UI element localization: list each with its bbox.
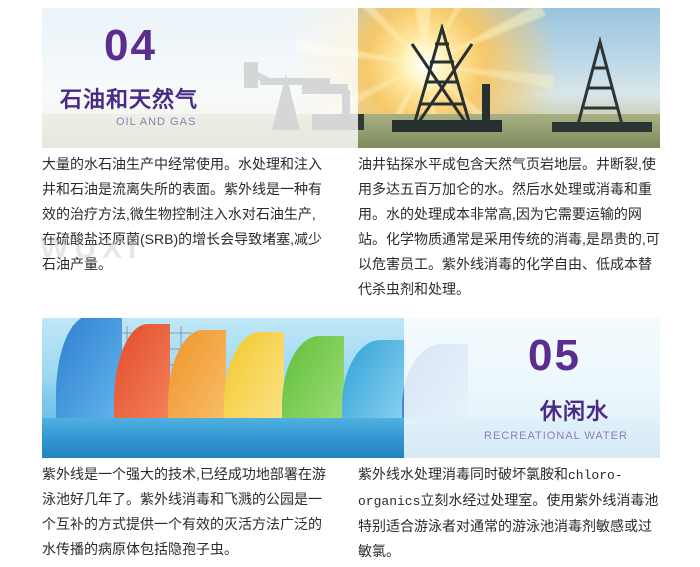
section-title-en-04: OIL AND GAS	[116, 116, 196, 128]
oil-and-gas-paragraph-left: 大量的水石油生产中经常使用。水处理和注入井和石油是流离失所的表面。紫外线是一种有…	[42, 152, 328, 277]
derrick-silhouette-right	[542, 36, 660, 132]
recreational-water-paragraph-right: 紫外线水处理消毒同时破坏氯胺和chloro-organics立刻水经过处理室。使…	[358, 462, 660, 564]
section-title-cn-04: 石油和天然气	[60, 82, 198, 114]
recreational-water-paragraph-left: 紫外线是一个强大的技术,已经成功地部署在游泳池好几年了。紫外线消毒和飞溅的公园是…	[42, 462, 334, 562]
paragraph-part-1: 紫外线水处理消毒同时破坏氯胺和	[358, 466, 568, 482]
oil-and-gas-title-overlay	[42, 8, 358, 148]
section-title-cn-05: 休闲水	[540, 394, 609, 426]
oil-and-gas-paragraph-right: 油井钻探水平成包含天然气页岩地层。井断裂,使用多达五百万加仑的水。然后水处理或消…	[358, 152, 660, 302]
section-title-en-05: RECREATIONAL WATER	[484, 430, 628, 442]
page-root: 04 石油和天然气 OIL AND GAS 大量的水石油生产中经常使用。水处理和…	[0, 0, 700, 567]
section-number-05: 05	[528, 334, 581, 378]
drilling-tower-silhouette	[372, 24, 522, 132]
section-number-04: 04	[104, 24, 157, 68]
